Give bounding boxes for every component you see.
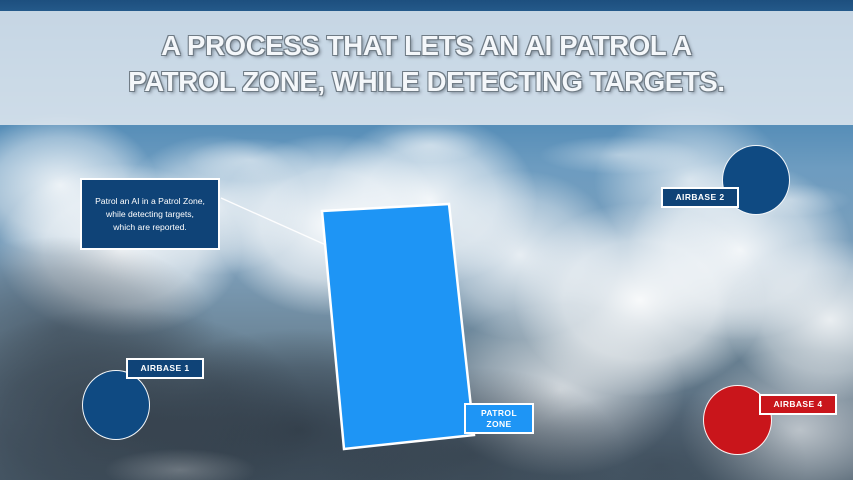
patrol-zone-polygon[interactable]: [322, 204, 474, 449]
airbase-4-label[interactable]: AIRBASE 4: [759, 394, 837, 415]
page-title-line-1: A PROCESS THAT LETS AN AI PATROL A: [0, 28, 853, 64]
slide-canvas: A PROCESS THAT LETS AN AI PATROL A PATRO…: [0, 0, 853, 480]
patrol-zone-label[interactable]: PATROL ZONE: [464, 403, 534, 434]
airbase-1-label[interactable]: AIRBASE 1: [126, 358, 204, 379]
airbase-2-label[interactable]: AIRBASE 2: [661, 187, 739, 208]
page-title-line-2: PATROL ZONE, WHILE DETECTING TARGETS.: [0, 64, 853, 100]
airbase-1-marker[interactable]: [82, 370, 150, 440]
callout-text: Patrol an AI in a Patrol Zone, while det…: [87, 195, 213, 234]
callout-box[interactable]: Patrol an AI in a Patrol Zone, while det…: [80, 178, 220, 250]
page-title: A PROCESS THAT LETS AN AI PATROL A PATRO…: [0, 28, 853, 100]
